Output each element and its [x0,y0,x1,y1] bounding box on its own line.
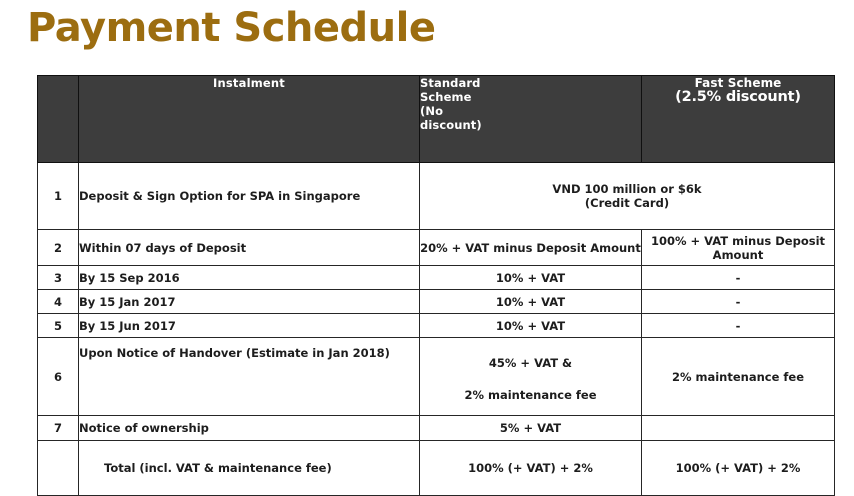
table-row: 5 By 15 Jun 2017 10% + VAT - [38,314,835,338]
table-header-row: Instalment Standard Scheme (No discount)… [38,76,835,163]
row-total-standard-value: 100% (+ VAT) + 2% [420,441,642,496]
row-standard-value: 10% + VAT [420,266,642,290]
header-standard-line1: Standard [420,76,480,90]
row-merged-value: VND 100 million or $6k (Credit Card) [420,163,835,230]
header-cell-fast-scheme: Fast Scheme (2.5% discount) [642,76,835,163]
row-fast-value: - [642,290,835,314]
row-number: 2 [38,230,79,266]
row-number: 1 [38,163,79,230]
row-number: 6 [38,338,79,416]
row-fast-value: 2% maintenance fee [642,338,835,416]
row-number: 3 [38,266,79,290]
header-fast-line1: Fast Scheme [642,76,834,90]
row-total-label: Total (incl. VAT & maintenance fee) [79,441,420,496]
row-instalment-label: By 15 Jun 2017 [79,314,420,338]
row-number: 7 [38,416,79,441]
payment-schedule-table: Instalment Standard Scheme (No discount)… [37,75,835,496]
header-fast-line2: (2.5% discount) [642,90,834,104]
row-fast-value [642,416,835,441]
table-row: 6 Upon Notice of Handover (Estimate in J… [38,338,835,416]
table-row: 7 Notice of ownership 5% + VAT [38,416,835,441]
table-row: 2 Within 07 days of Deposit 20% + VAT mi… [38,230,835,266]
row-instalment-label: Within 07 days of Deposit [79,230,420,266]
row-fast-value: - [642,314,835,338]
header-cell-standard-scheme: Standard Scheme (No discount) [420,76,642,163]
merged-value-line2: (Credit Card) [585,196,669,210]
row-number: 5 [38,314,79,338]
row-instalment-label: Upon Notice of Handover (Estimate in Jan… [79,338,420,416]
row-total-fast-value: 100% (+ VAT) + 2% [642,441,835,496]
table-row: 1 Deposit & Sign Option for SPA in Singa… [38,163,835,230]
row-standard-value-line2: 2% maintenance fee [420,388,641,402]
payment-schedule-table-wrapper: Instalment Standard Scheme (No discount)… [37,75,834,479]
table-row: 4 By 15 Jan 2017 10% + VAT - [38,290,835,314]
row-standard-value: 10% + VAT [420,290,642,314]
row-fast-value: 100% + VAT minus Deposit Amount [642,230,835,266]
slide-root: Payment Schedule Instalment Standard Sch… [0,0,854,487]
page-title: Payment Schedule [27,2,435,54]
row-standard-value-line1: 45% + VAT & [420,352,641,388]
header-cell-instalment: Instalment [79,76,420,163]
row-instalment-label: By 15 Sep 2016 [79,266,420,290]
header-standard-line2: Scheme [420,90,471,104]
row-fast-value: - [642,266,835,290]
table-row: 3 By 15 Sep 2016 10% + VAT - [38,266,835,290]
row-instalment-label: Notice of ownership [79,416,420,441]
row-standard-value: 20% + VAT minus Deposit Amount [420,230,642,266]
header-standard-line3: (No [420,104,443,118]
header-cell-number [38,76,79,163]
row-instalment-label: By 15 Jan 2017 [79,290,420,314]
row-standard-value: 5% + VAT [420,416,642,441]
row-standard-value: 10% + VAT [420,314,642,338]
row-standard-value: 45% + VAT & 2% maintenance fee [420,338,642,416]
row-number [38,441,79,496]
table-row-total: Total (incl. VAT & maintenance fee) 100%… [38,441,835,496]
header-standard-line4: discount) [420,118,482,132]
row-instalment-label: Deposit & Sign Option for SPA in Singapo… [79,163,420,230]
merged-value-line1: VND 100 million or $6k [552,182,701,196]
row-number: 4 [38,290,79,314]
